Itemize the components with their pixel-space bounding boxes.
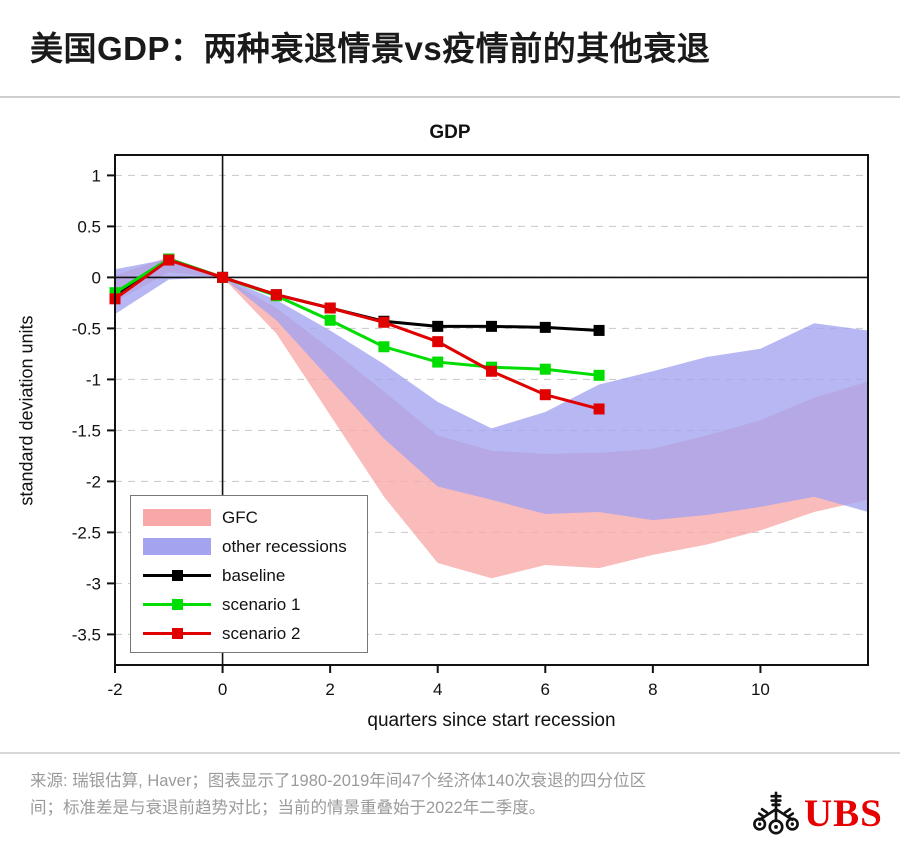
svg-text:2: 2 — [325, 680, 334, 699]
legend-color-patch — [143, 538, 211, 555]
legend-item: scenario 1 — [131, 590, 367, 619]
svg-text:-1.5: -1.5 — [72, 421, 101, 440]
svg-text:-3: -3 — [86, 574, 101, 593]
legend-item-label: baseline — [222, 566, 285, 586]
legend-item-label: other recessions — [222, 537, 347, 557]
svg-text:10: 10 — [751, 680, 770, 699]
page-title: 美国GDP：两种衰退情景vs疫情前的其他衰退 — [30, 22, 880, 70]
svg-text:0.5: 0.5 — [77, 217, 101, 236]
svg-text:-3.5: -3.5 — [72, 625, 101, 644]
svg-text:-1: -1 — [86, 370, 101, 389]
ubs-logo: UBS — [752, 790, 884, 838]
svg-text:0: 0 — [92, 268, 101, 287]
legend-item: baseline — [131, 561, 367, 590]
svg-text:-2: -2 — [86, 472, 101, 491]
legend-item-label: scenario 2 — [222, 624, 300, 644]
legend-item: GFC — [131, 503, 367, 532]
svg-text:6: 6 — [541, 680, 550, 699]
infographic-page: 美国GDP：两种衰退情景vs疫情前的其他衰退 GDP standard devi… — [0, 0, 900, 866]
legend-item-label: GFC — [222, 508, 258, 528]
svg-text:1: 1 — [92, 166, 101, 185]
legend-line-sample — [143, 567, 211, 584]
legend-item-label: scenario 1 — [222, 595, 300, 615]
chart-figure: GDP standard deviation units quarters si… — [0, 100, 900, 750]
legend-line-sample — [143, 596, 211, 613]
svg-text:-0.5: -0.5 — [72, 319, 101, 338]
footer-divider — [0, 752, 900, 754]
svg-text:4: 4 — [433, 680, 442, 699]
svg-text:0: 0 — [218, 680, 227, 699]
svg-text:8: 8 — [648, 680, 657, 699]
chart-legend: GFCother recessionsbaselinescenario 1sce… — [130, 495, 368, 653]
svg-text:-2.5: -2.5 — [72, 523, 101, 542]
legend-line-sample — [143, 625, 211, 642]
header-divider — [0, 96, 900, 98]
source-footnote: 来源: 瑞银估算, Haver；图表显示了1980-2019年间47个经济体14… — [30, 768, 670, 821]
legend-color-patch — [143, 509, 211, 526]
svg-text:-2: -2 — [107, 680, 122, 699]
legend-item: other recessions — [131, 532, 367, 561]
legend-item: scenario 2 — [131, 619, 367, 648]
ubs-wordmark: UBS — [804, 792, 883, 836]
ubs-keys-icon — [752, 790, 800, 838]
